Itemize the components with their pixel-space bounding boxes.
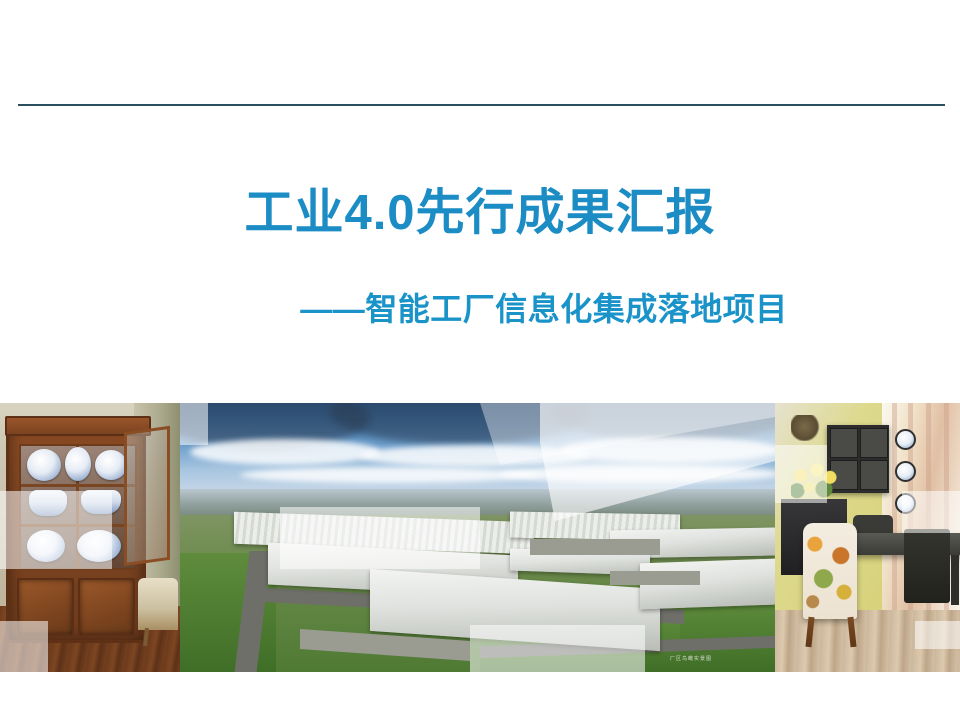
porcelain-tureen: [29, 490, 67, 516]
porcelain-plate: [95, 450, 127, 480]
presentation-slide: 工业4.0先行成果汇报 ——智能工厂信息化集成落地项目: [0, 0, 960, 720]
top-horizontal-rule: [18, 104, 945, 106]
page-subtitle: ——智能工厂信息化集成落地项目: [128, 292, 960, 327]
dark-dining-chair: [904, 529, 950, 603]
subtitle-block: ——智能工厂信息化集成落地项目: [0, 292, 960, 327]
photo-panel-interior-dining-room: [775, 403, 960, 672]
cabinet-glass-doors: [19, 444, 137, 570]
porcelain-platter: [77, 530, 121, 562]
page-title: 工业4.0先行成果汇报: [0, 188, 960, 239]
wall-hung-plate: [895, 429, 916, 450]
cabinet-open-glass-door: [124, 426, 170, 566]
wall-hung-plate: [895, 493, 916, 514]
title-block: 工业4.0先行成果汇报: [0, 188, 960, 239]
wall-hung-plate: [895, 461, 916, 482]
shelf-cell: [860, 428, 888, 458]
photo-panel-interior-china-cabinet: [0, 403, 180, 672]
cabinet-door-right: [78, 578, 135, 636]
photo-watermark: 厂区鸟瞰实景图: [670, 655, 712, 662]
porcelain-tureen: [81, 490, 121, 514]
laminate-floor: [775, 610, 960, 672]
decor-diagonal-wedge: [180, 403, 775, 672]
wall-decor-art: [791, 415, 821, 441]
cabinet-door-left: [17, 578, 74, 636]
mullion-horizontal: [21, 484, 135, 487]
floral-upholstered-chair: [803, 523, 857, 619]
shelf-cell: [860, 460, 888, 490]
upholstered-side-chair: [138, 578, 178, 630]
photo-panel-aerial-factory: 厂区鸟瞰实景图: [180, 403, 775, 672]
porcelain-platter: [27, 530, 65, 562]
photo-collage-band: 厂区鸟瞰实景图: [0, 403, 960, 672]
shelf-cell: [830, 428, 858, 458]
mullion-horizontal: [21, 524, 135, 527]
porcelain-vase: [65, 447, 91, 481]
table-leg: [951, 555, 959, 605]
cabinet-lower-doors: [17, 578, 135, 636]
porcelain-plate: [27, 449, 61, 481]
bottom-white-area: [0, 672, 960, 720]
